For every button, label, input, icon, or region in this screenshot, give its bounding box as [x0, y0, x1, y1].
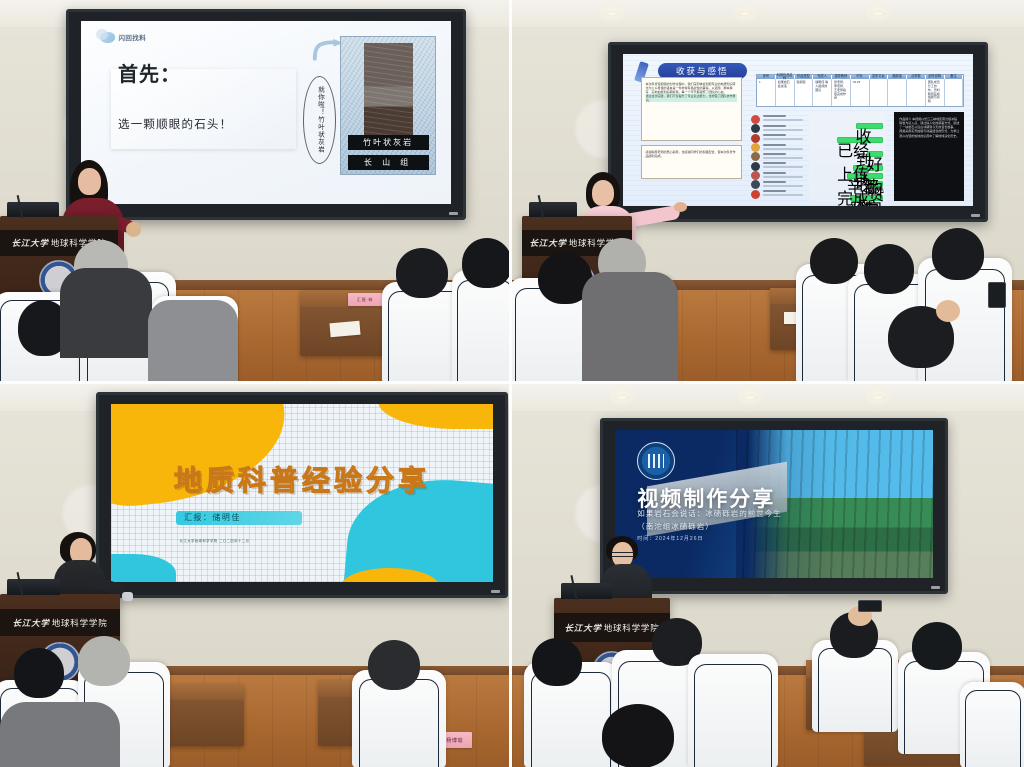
- avatar: [751, 190, 760, 199]
- nameplate: 汇报·林: [348, 293, 382, 306]
- avatar: [751, 124, 760, 133]
- avatar: [751, 171, 760, 180]
- summary-table: 序号 科普作品名称 作品类型 完成人 指导教师 时长 发布平台 播放量 点赞数 …: [756, 74, 964, 107]
- audience-head: [462, 238, 509, 288]
- chat-bubble: 已经上传完成啦: [837, 137, 882, 143]
- laptop: [561, 583, 612, 599]
- slide-video-production-sharing: 视频制作分享 如果岩石会说话：冰碛砾岩的前世今生 （南沱组冰碛砾岩） 时间：20…: [615, 430, 933, 578]
- contact-name-lines: [763, 125, 804, 133]
- callout-vertical-text: 就你啦！竹叶状灰岩: [309, 81, 331, 158]
- avatar: [751, 143, 760, 152]
- chat-bubble: 已完成: [850, 195, 883, 201]
- laptop: [7, 579, 60, 595]
- audience-shoulders: [60, 268, 152, 358]
- panel-bottom-right: 视频制作分享 如果岩石会说话：冰碛砾岩的前世今生 （南沱组冰碛砾岩） 时间：20…: [512, 384, 1024, 767]
- list-item: [751, 152, 804, 161]
- audience-head: [14, 648, 64, 698]
- podium-school: 地球科学学院: [604, 622, 660, 634]
- paper-sheet: [329, 321, 360, 338]
- slide-subtitle-line2: （南沱组冰碛砾岩）: [637, 520, 815, 534]
- slide-footer-note: 长江大学地球科学学院 二〇二四年十二月: [180, 539, 279, 544]
- audience-head: [78, 636, 130, 686]
- reflection-note-1: 本次科普短视频的创作过程中，我们深刻体会到把专业的地质知识转化为公众易懂的语言是…: [641, 77, 743, 141]
- panel-bottom-left: 地质科普经验分享 汇报：储明佳 长江大学地球科学学院 二〇二四年十二月 长江大学…: [0, 384, 509, 767]
- slide-subtitle: 如果岩石会说话：冰碛砾岩的前世今生 （南沱组冰碛砾岩）: [637, 507, 815, 534]
- audience-shoulders: [0, 702, 120, 767]
- slide-heading: 首先：: [118, 58, 181, 87]
- avatar: [751, 134, 760, 143]
- audience-head: [396, 248, 448, 298]
- slide-area: 收获与感悟 序号 科普作品名称 作品类型 完成人 指导教师 时长 发布平台 播放…: [623, 54, 973, 206]
- chat-contact-list: [751, 115, 804, 200]
- chat-conversation: 收到收到 已经上传完成啦 好的 马上就来 辛苦大家了 赞 已完成: [809, 112, 886, 202]
- contact-name-lines: [763, 115, 804, 123]
- slide-first-pick-a-rock: 闪回找料 首先： 选一颗顺眼的石头！ 就你啦！竹叶状灰岩 竹叶状灰岩 长 山 组: [81, 21, 451, 204]
- list-item: [751, 134, 804, 143]
- list-item: [751, 124, 804, 133]
- table-cell: 张老师、李老师、王老师指导完成作品: [832, 79, 851, 106]
- audience-head: [864, 244, 914, 294]
- table-cell: 团队成员分工协作，历时两周完成拍摄与剪辑: [926, 79, 945, 106]
- glasses-icon: [612, 552, 634, 557]
- table-cell: 短视频: [795, 79, 814, 106]
- list-item: [751, 180, 804, 189]
- chat-timestamp: [812, 118, 883, 122]
- avatar: [751, 162, 760, 171]
- table-cell: 如果岩石会说话: [776, 79, 795, 106]
- phone-recording: [988, 282, 1006, 308]
- podium-university: 长江大学: [564, 622, 601, 634]
- slide-area: 闪回找料 首先： 选一颗顺眼的石头！ 就你啦！竹叶状灰岩 竹叶状灰岩 长 山 组: [81, 21, 451, 204]
- audience-chair: [960, 682, 1024, 767]
- audience-hand: [936, 300, 960, 322]
- logo-blob-icon: [100, 32, 115, 43]
- podium-university: 长江大学: [529, 237, 566, 249]
- speaker-hand: [126, 222, 141, 237]
- contact-name-lines: [763, 144, 804, 152]
- university-emblem-icon: [637, 442, 675, 480]
- presenter-clicker: [122, 592, 133, 601]
- list-item: [751, 171, 804, 180]
- projection-screen: 地质科普经验分享 汇报：储明佳 长江大学地球科学学院 二〇二四年十二月: [96, 392, 508, 598]
- phone-recording: [858, 600, 882, 612]
- table-cell: 1: [757, 79, 776, 106]
- list-item: [751, 190, 804, 199]
- audience-head: [912, 622, 962, 670]
- table-cell: 储明佳 等人组成的团队: [813, 79, 832, 106]
- chat-bubble: 赞: [868, 181, 882, 187]
- slide-logo-label: 闪回找料: [119, 32, 147, 42]
- laptop: [529, 202, 577, 217]
- contact-name-lines: [763, 172, 804, 180]
- podium-sign: 长江大学 地球科学学院: [0, 609, 120, 637]
- contact-name-lines: [763, 162, 804, 170]
- rock-core: [364, 43, 413, 142]
- panel-top-right: 收获与感悟 序号 科普作品名称 作品类型 完成人 指导教师 时长 发布平台 播放…: [512, 0, 1024, 381]
- audience-head: [602, 704, 674, 767]
- audience-head: [532, 638, 582, 686]
- audience-shoulders: [148, 300, 238, 381]
- contact-name-lines: [763, 134, 804, 142]
- audience-shoulders: [582, 272, 678, 381]
- presentation-photo-collage: 闪回找料 首先： 选一颗顺眼的石头！ 就你啦！竹叶状灰岩 竹叶状灰岩 长 山 组: [0, 0, 1024, 767]
- contact-name-lines: [763, 153, 804, 161]
- reflection-note-1-highlight: 通过这次实践，我们不仅提升了专业表达能力，也增强了团队协作意识。: [646, 94, 738, 102]
- chat-bubble: 辛苦大家了: [847, 173, 883, 179]
- slide-title: 地质科普经验分享: [111, 459, 493, 499]
- chat-bubble: 好的: [867, 151, 883, 157]
- slide-logo: 闪回找料: [100, 32, 147, 43]
- contact-name-lines: [763, 181, 804, 189]
- laptop: [7, 202, 59, 217]
- rock-label-primary: 竹叶状灰岩: [348, 135, 429, 150]
- audience-head: [810, 238, 858, 284]
- audience-head: [368, 640, 420, 690]
- table-cell: [870, 79, 889, 106]
- table-cell: [945, 79, 964, 106]
- slide-geology-outreach-title: 地质科普经验分享 汇报：储明佳 长江大学地球科学学院 二〇二四年十二月: [111, 404, 493, 582]
- slide-area: 视频制作分享 如果岩石会说话：冰碛砾岩的前世今生 （南沱组冰碛砾岩） 时间：20…: [615, 430, 933, 578]
- slide-harvest-and-reflection: 收获与感悟 序号 科普作品名称 作品类型 完成人 指导教师 时长 发布平台 播放…: [623, 54, 973, 206]
- slide-subtitle-line1: 如果岩石会说话：冰碛砾岩的前世今生: [637, 507, 815, 521]
- work-description-panel: 作品简介 本视频以长江三峡地区南沱组冰碛砾岩为切入点，通过拟人化的叙事方式，讲述…: [894, 112, 964, 202]
- podium-university: 长江大学: [11, 237, 48, 249]
- avatar: [751, 180, 760, 189]
- slide-subheading: 选一颗顺眼的石头！: [118, 116, 232, 132]
- list-item: [751, 143, 804, 152]
- rock-specimen-photo: 竹叶状灰岩 长 山 组: [340, 36, 436, 175]
- podium-school: 地球科学学院: [52, 617, 108, 629]
- audience-head: [932, 228, 984, 280]
- panel-top-left: 闪回找料 首先： 选一颗顺眼的石头！ 就你啦！竹叶状灰岩 竹叶状灰岩 长 山 组: [0, 0, 509, 381]
- table-cell: [888, 79, 907, 106]
- avatar: [751, 152, 760, 161]
- list-item: [751, 162, 804, 171]
- slide-reporter-label: 汇报：储明佳: [176, 511, 302, 525]
- podium-university: 长江大学: [12, 617, 49, 629]
- audience-chair: [688, 654, 778, 767]
- contact-name-lines: [763, 190, 804, 198]
- rock-label-secondary: 长 山 组: [348, 155, 429, 170]
- speaker-head: [592, 180, 614, 206]
- avatar: [751, 115, 760, 124]
- table-row: 1 如果岩石会说话 短视频 储明佳 等人组成的团队 张老师、李老师、王老师指导完…: [757, 79, 963, 106]
- reflection-note-1-text: 本次科普短视频的创作过程中，我们深刻体会到把专业的地质知识转化为公众易懂的语言是…: [646, 82, 736, 94]
- chat-bubble: 收到收到: [856, 123, 883, 129]
- table-cell: [907, 79, 926, 106]
- table-cell: 03:25: [851, 79, 870, 106]
- slide-area: 地质科普经验分享 汇报：储明佳 长江大学地球科学学院 二〇二四年十二月: [111, 404, 493, 582]
- list-item: [751, 115, 804, 124]
- speaker-hand: [674, 202, 687, 212]
- speaker-head: [78, 168, 101, 195]
